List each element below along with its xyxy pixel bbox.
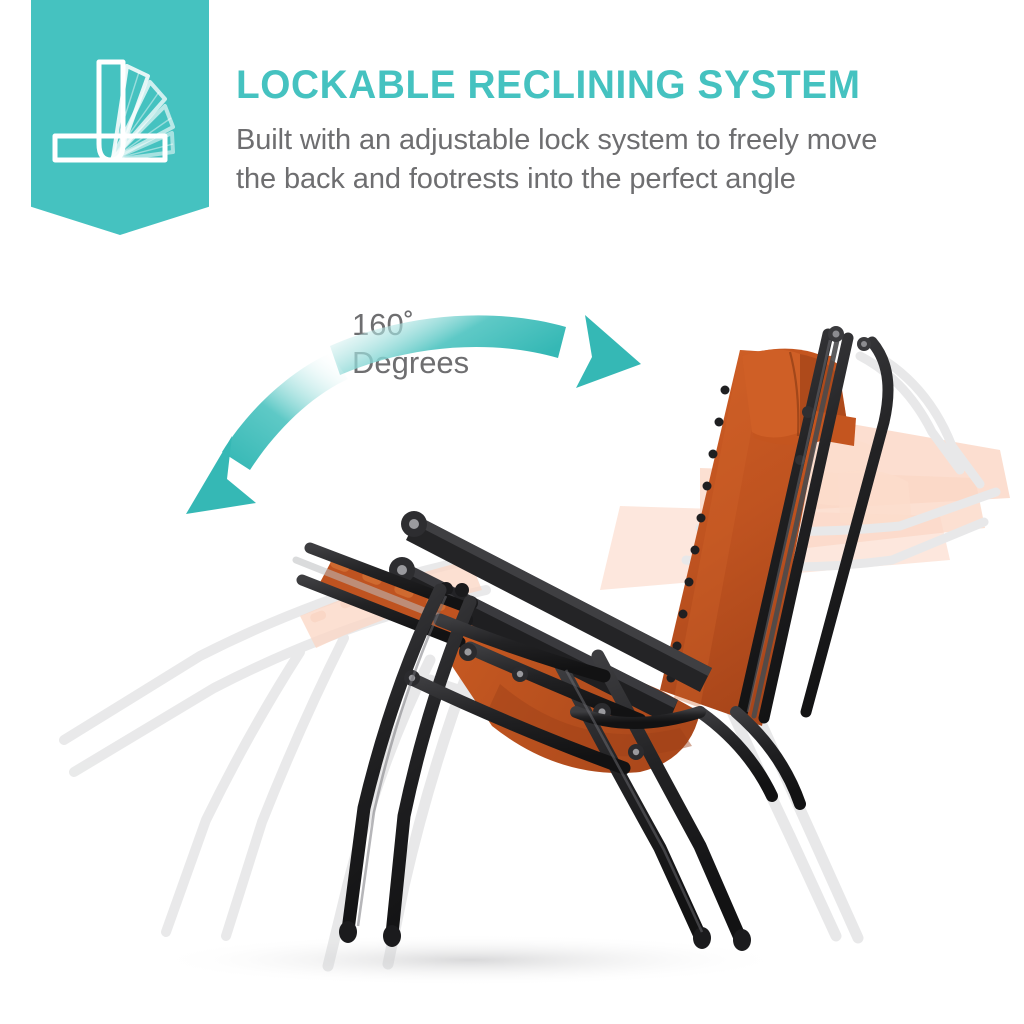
reclining-backrest-fan-icon bbox=[47, 48, 193, 176]
page-title: LOCKABLE RECLINING SYSTEM bbox=[236, 60, 993, 110]
header-text-block: LOCKABLE RECLINING SYSTEM Built with an … bbox=[236, 60, 1016, 199]
subtitle-line-1: Built with an adjustable lock system to … bbox=[236, 121, 1016, 160]
header-section: LOCKABLE RECLINING SYSTEM Built with an … bbox=[0, 0, 1024, 250]
subtitle-line-2: the back and footrests into the perfect … bbox=[236, 160, 1016, 199]
infographic-page: LOCKABLE RECLINING SYSTEM Built with an … bbox=[0, 0, 1024, 1024]
page-subtitle: Built with an adjustable lock system to … bbox=[236, 121, 1016, 199]
feature-badge bbox=[31, 0, 209, 235]
product-image bbox=[0, 260, 1024, 1024]
zero-gravity-chair-illustration bbox=[0, 260, 1024, 1024]
